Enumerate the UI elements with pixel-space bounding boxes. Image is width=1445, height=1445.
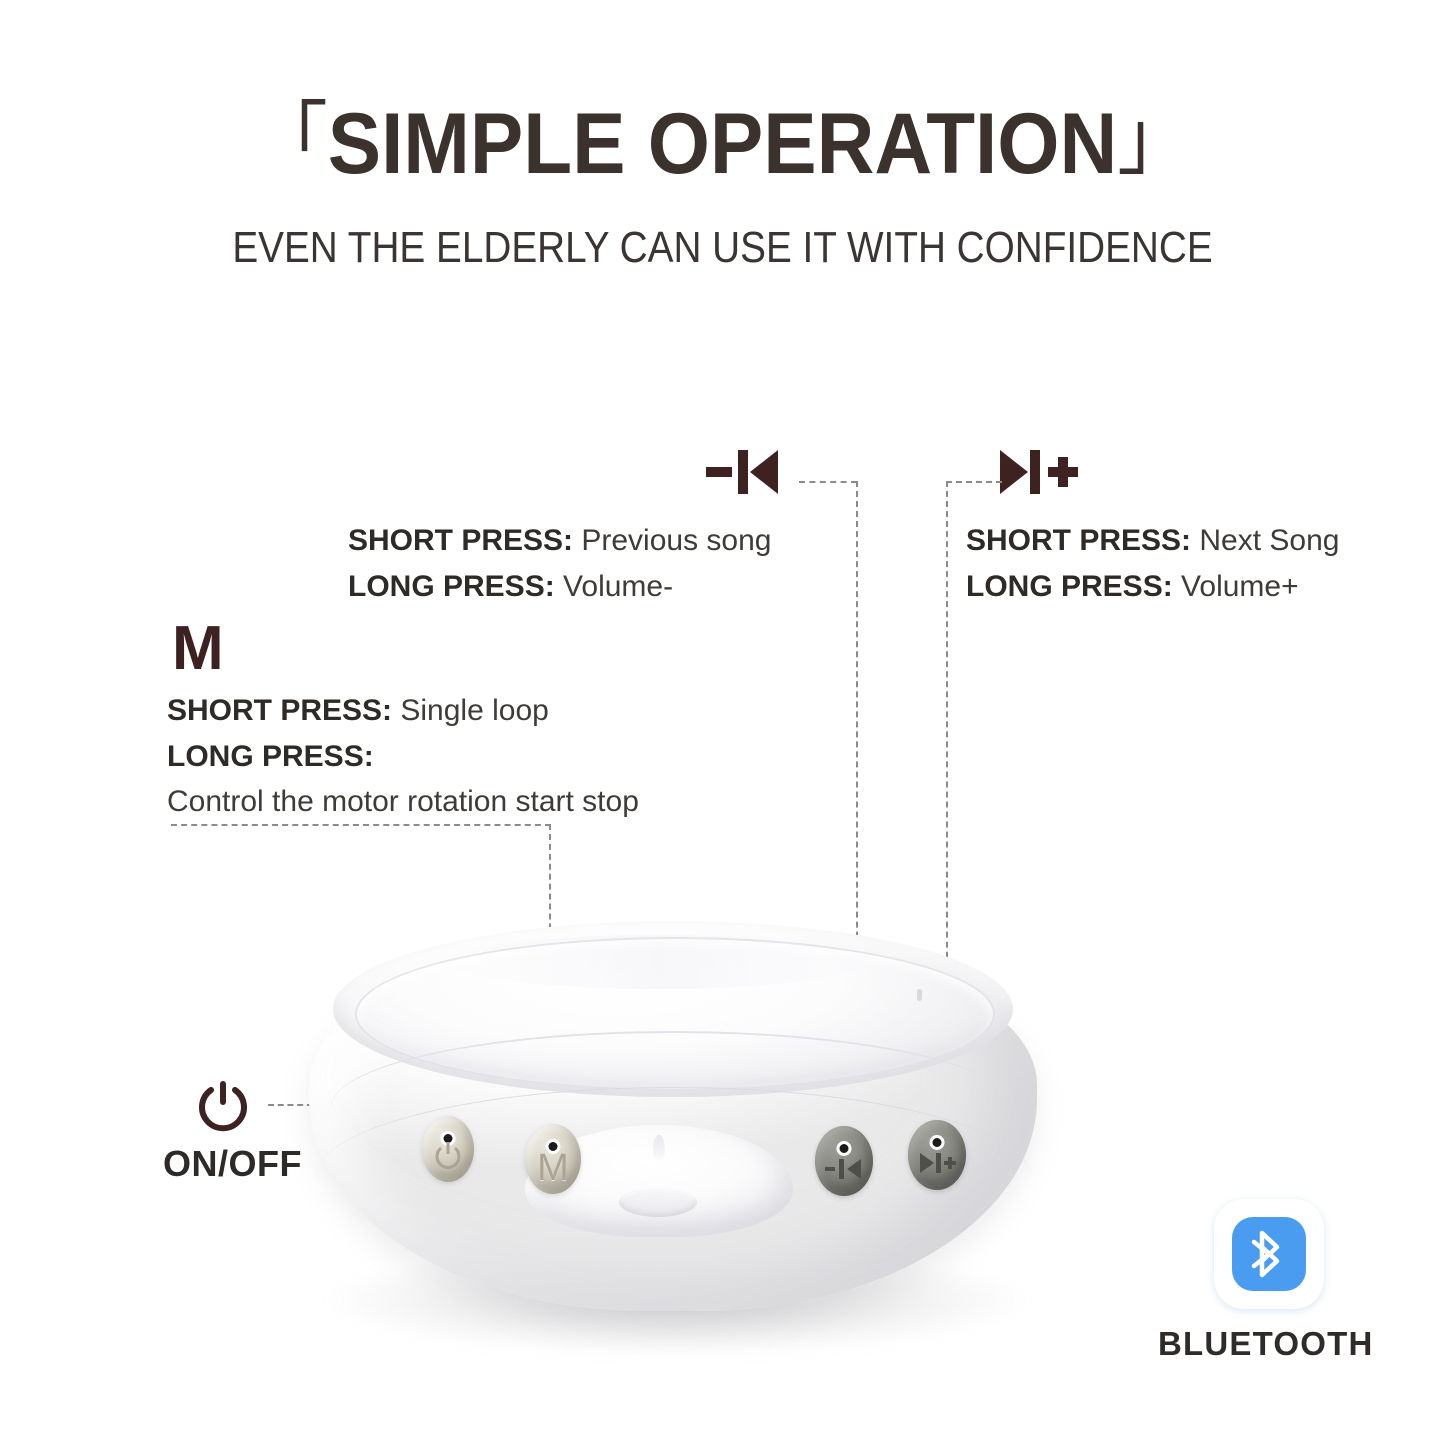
bluetooth-speaker: M	[297, 915, 1057, 1335]
device-microphone-pinhole	[917, 989, 922, 1001]
page-subtitle: EVEN THE ELDERLY CAN USE IT WITH CONFIDE…	[87, 222, 1359, 274]
mode-button[interactable]: M	[525, 1124, 581, 1194]
mode-long-press-label-line: LONG PRESS:	[167, 734, 639, 780]
bluetooth-badge: BLUETOOTH	[1209, 1199, 1399, 1389]
next-button[interactable]	[908, 1120, 966, 1190]
previous-annotation-block: SHORT PRESS: Previous song LONG PRESS: V…	[348, 518, 771, 610]
previous-long-press-label: LONG PRESS:	[348, 570, 555, 603]
next-annotation-block: SHORT PRESS: Next Song LONG PRESS: Volum…	[966, 518, 1339, 610]
bracket-open-icon: 「	[253, 95, 327, 184]
mode-annotation-block: SHORT PRESS: Single loop LONG PRESS: Con…	[167, 688, 639, 824]
previous-track-minus-icon	[706, 448, 784, 501]
infographic-canvas: 「SIMPLE OPERATION」 EVEN THE ELDERLY CAN …	[0, 0, 1445, 1445]
next-long-press-line: LONG PRESS: Volume+	[966, 564, 1339, 610]
page-title: 「SIMPLE OPERATION」	[51, 96, 1395, 194]
previous-button[interactable]	[815, 1126, 873, 1196]
previous-short-press-value: Previous song	[581, 524, 771, 557]
bluetooth-icon	[1214, 1199, 1324, 1309]
next-track-plus-icon	[1000, 448, 1080, 501]
mode-short-press-line: SHORT PRESS: Single loop	[167, 688, 639, 734]
previous-button-glyph	[824, 1158, 864, 1180]
bracket-close-icon: 」	[1117, 95, 1191, 184]
next-long-press-label: LONG PRESS:	[966, 570, 1173, 603]
mode-button-label: M	[537, 1149, 569, 1187]
previous-short-press-line: SHORT PRESS: Previous song	[348, 518, 771, 564]
next-button-glyph	[917, 1152, 957, 1174]
previous-button-hole	[837, 1141, 852, 1156]
next-short-press-value: Next Song	[1199, 524, 1339, 557]
mode-long-press-label: LONG PRESS:	[167, 740, 374, 773]
power-label: ON/OFF	[163, 1146, 302, 1182]
previous-long-press-line: LONG PRESS: Volume-	[348, 564, 771, 610]
mode-long-press-value: Control the motor rotation start stop	[167, 785, 639, 818]
device-front-crease	[653, 1135, 665, 1161]
mode-m-icon: M	[172, 618, 224, 680]
next-short-press-line: SHORT PRESS: Next Song	[966, 518, 1339, 564]
next-button-hole	[930, 1135, 945, 1150]
next-long-press-value: Volume+	[1181, 570, 1299, 603]
previous-short-press-label: SHORT PRESS:	[348, 524, 573, 557]
mode-long-press-value-line: Control the motor rotation start stop	[167, 780, 639, 824]
device-front-nub	[619, 1187, 697, 1217]
mode-short-press-value: Single loop	[400, 694, 548, 727]
previous-long-press-value: Volume-	[563, 570, 673, 603]
page-title-text: SIMPLE OPERATION	[328, 96, 1117, 192]
power-button[interactable]	[422, 1116, 474, 1182]
mode-short-press-label: SHORT PRESS:	[167, 694, 392, 727]
power-button-glyph	[433, 1141, 463, 1171]
next-short-press-label: SHORT PRESS:	[966, 524, 1191, 557]
power-icon	[194, 1078, 252, 1141]
bluetooth-label: BLUETOOTH	[1158, 1325, 1370, 1363]
